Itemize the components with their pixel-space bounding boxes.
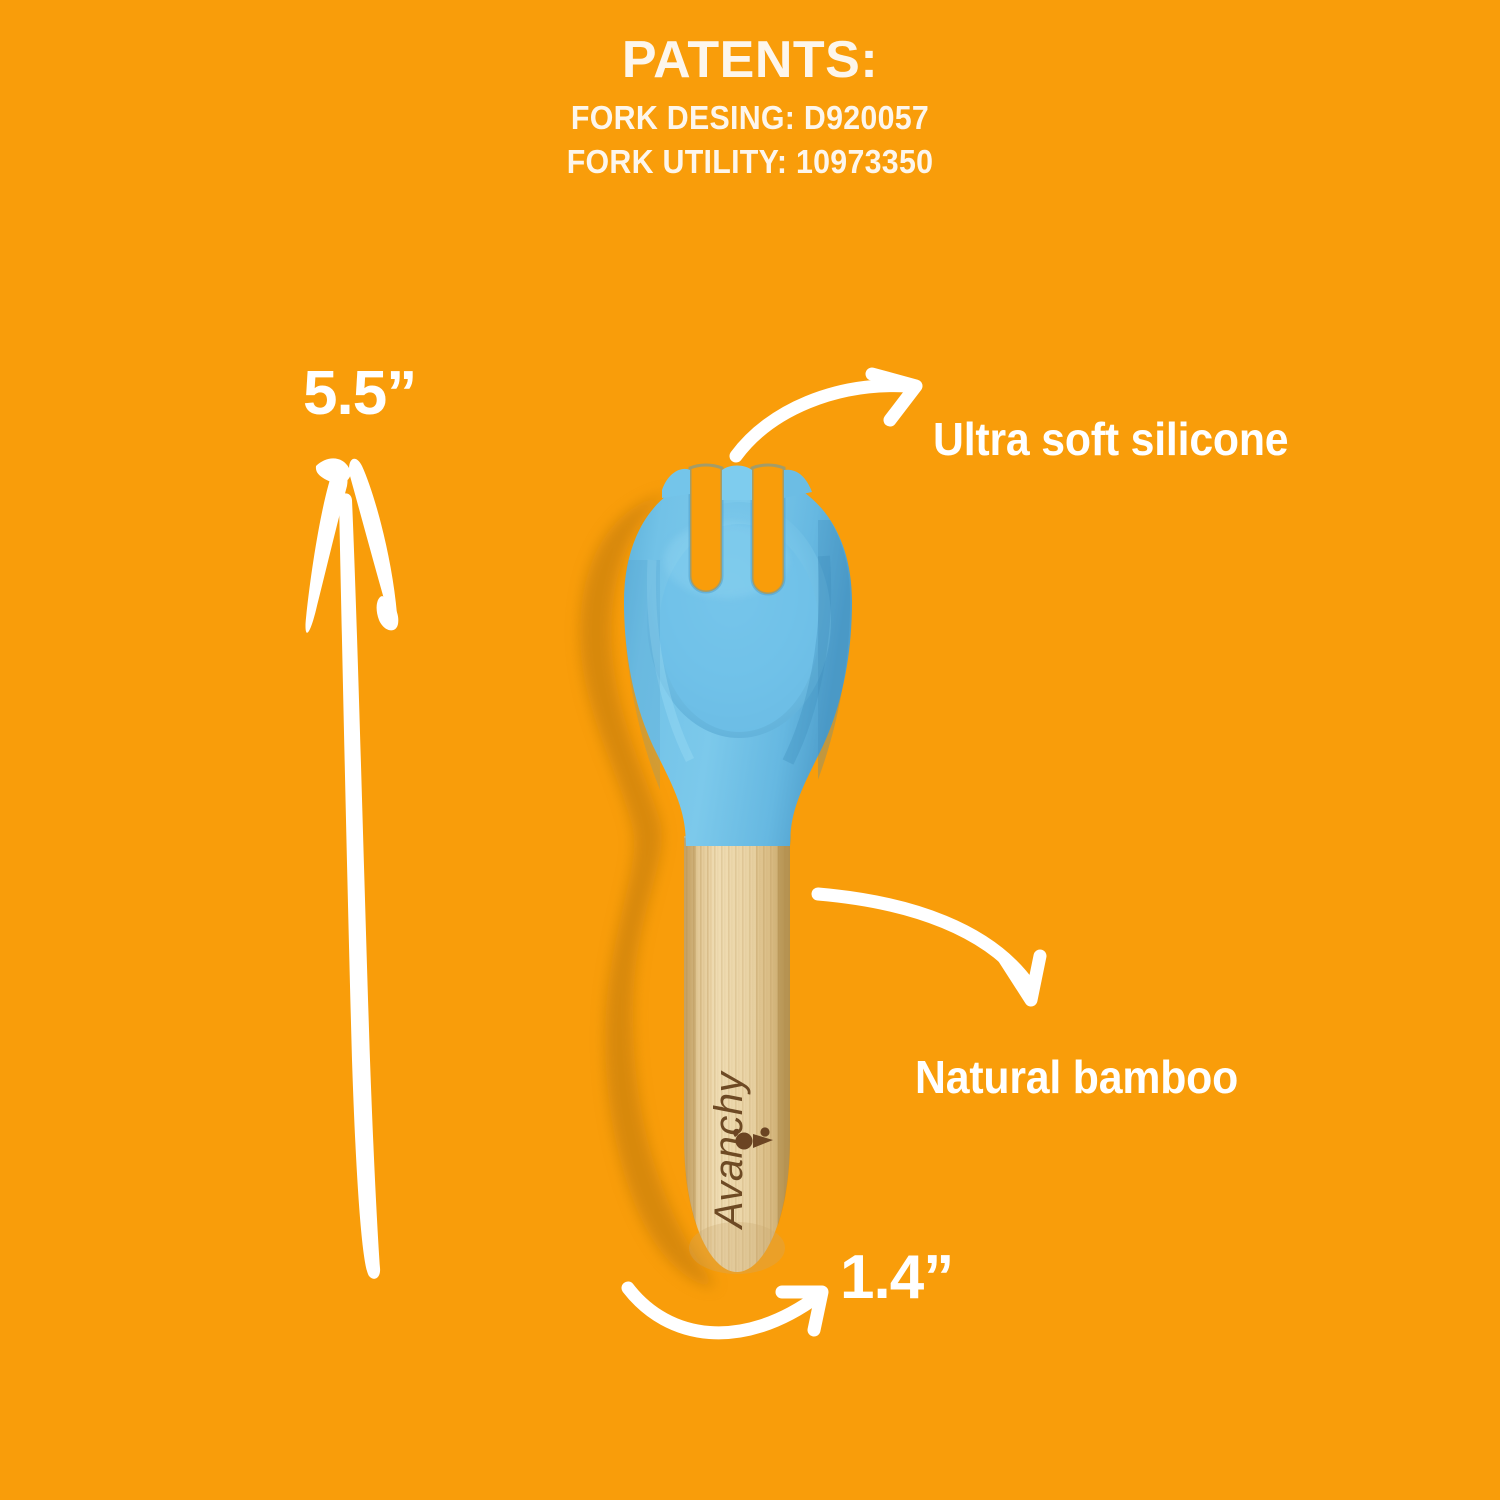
patents-block: PATENTS: FORK DESING: D920057 FORK UTILI… — [0, 34, 1500, 184]
patents-title: PATENTS: — [0, 34, 1500, 86]
width-dimension-label: 1.4” — [840, 1242, 953, 1313]
feature-label-silicone: Ultra soft silicone — [933, 412, 1288, 466]
infographic-canvas: Avanchy — [0, 0, 1500, 1500]
feature-label-bamboo: Natural bamboo — [915, 1050, 1238, 1104]
spork-handle-bamboo: Avanchy — [680, 830, 796, 1280]
curved-arrow-smile-icon — [628, 1288, 822, 1333]
product-illustration: Avanchy — [0, 0, 1500, 1500]
patents-utility-line: FORK UTILITY: 10973350 — [60, 140, 1440, 184]
height-dimension-label: 5.5” — [303, 358, 416, 429]
patents-design-line: FORK DESING: D920057 — [60, 96, 1440, 140]
curved-arrow-right-icon — [736, 374, 916, 456]
avanchy-brand-engraving: Avanchy — [707, 1069, 751, 1230]
spork-head-silicone — [624, 465, 852, 850]
curved-arrow-down-icon — [818, 894, 1040, 1000]
arrow-up-icon — [305, 458, 398, 1278]
brand-name-text: Avanchy — [707, 1069, 751, 1230]
